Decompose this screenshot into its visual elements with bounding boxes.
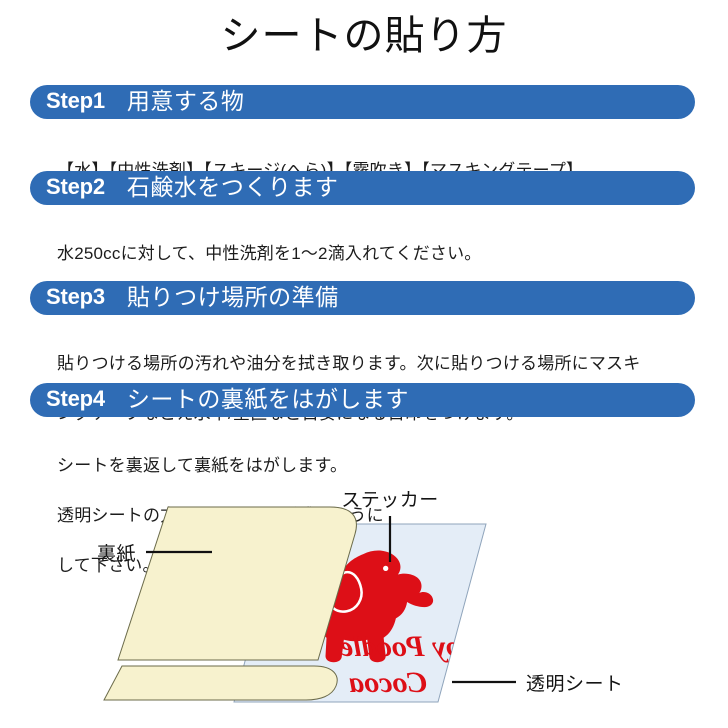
step-bar-1: Step1 用意する物 [30,85,695,119]
step-body-4-line-1: シートを裏返して裏紙をはがします。 [57,453,477,478]
step-heading-4: シートの裏紙をはがします [127,388,409,413]
step-body-2-line-1: 水250ccに対して、中性洗剤を1〜2滴入れてください。 [57,241,677,266]
instruction-sheet: シートの貼り方 Step1 用意する物 【水】【中性洗剤】【スキージ(へら)】【… [0,0,728,728]
step-number-1: Step1 [46,90,105,114]
step-bar-4: Step4 シートの裏紙をはがします [30,383,695,417]
label-backing-paper: 裏紙 [97,543,136,565]
step-heading-3: 貼りつけ場所の準備 [127,286,339,311]
sticker-text-line-2: Cocoa [349,666,427,699]
label-transparent-sheet: 透明シート [526,673,624,695]
step-number-4: Step4 [46,388,105,412]
step-body-3-line-1: 貼りつける場所の汚れや油分を拭き取ります。次に貼りつける場所にマスキ [57,351,657,376]
step-heading-1: 用意する物 [127,90,245,115]
step-heading-2: 石鹸水をつくります [127,176,339,201]
step-number-3: Step3 [46,286,105,310]
step-bar-2: Step2 石鹸水をつくります [30,171,695,205]
step-body-2: 水250ccに対して、中性洗剤を1〜2滴入れてください。 ※洗剤の入れ過ぎに注意… [57,216,677,341]
step-number-2: Step2 [46,176,105,200]
step-bar-3: Step3 貼りつけ場所の準備 [30,281,695,315]
backing-paper-shape [104,507,356,700]
peel-backing-illustration: Toy Poodle Cocoa 裏紙 ステッカー [0,490,728,728]
label-sticker: ステッカー [341,490,439,511]
sticker-text-line-1: Toy Poodle [340,630,476,663]
page-title: シートの貼り方 [0,8,728,64]
